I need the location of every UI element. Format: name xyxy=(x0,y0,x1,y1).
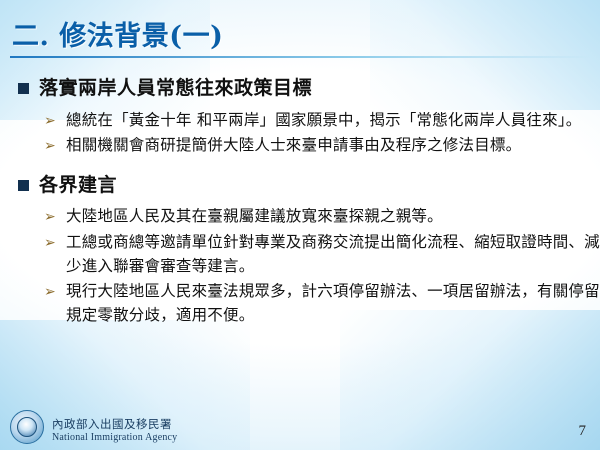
list-item-label: 現行大陸地區人民來臺法規眾多，計六項停留辦法、一項居留辦法，有關停留規定零散分歧… xyxy=(66,279,600,327)
organization-name-english: National Immigration Agency xyxy=(52,432,177,444)
list-item-label: 相關機關會商研提簡併大陸人士來臺申請事由及程序之修法目標。 xyxy=(66,133,521,157)
agency-logo-inner xyxy=(17,417,37,437)
list-item: ➢ 總統在「黃金十年 和平兩岸」國家願景中，揭示「常態化兩岸人員往來」。 xyxy=(0,108,600,133)
agency-logo-icon xyxy=(10,410,44,444)
arrow-bullet-icon: ➢ xyxy=(44,111,58,133)
arrow-bullet-icon: ➢ xyxy=(44,136,58,158)
section-heading: 落實兩岸人員常態往來政策目標 xyxy=(0,74,600,103)
section-heading-label: 落實兩岸人員常態往來政策目標 xyxy=(39,74,312,103)
list-item: ➢ 工總或商總等邀請單位針對專業及商務交流提出簡化流程、縮短取證時間、減少進入聯… xyxy=(0,230,600,278)
list-item-label: 總統在「黃金十年 和平兩岸」國家願景中，揭示「常態化兩岸人員往來」。 xyxy=(66,108,581,132)
page-number: 7 xyxy=(579,423,587,440)
square-bullet-icon xyxy=(18,180,29,191)
list-item: ➢ 相關機關會商研提簡併大陸人士來臺申請事由及程序之修法目標。 xyxy=(0,133,600,158)
list-item: ➢ 大陸地區人民及其在臺親屬建議放寬來臺探親之親等。 xyxy=(0,204,600,229)
section-heading-label: 各界建言 xyxy=(39,171,117,200)
slide-footer: 內政部入出國及移民署 National Immigration Agency 7 xyxy=(0,408,600,450)
title-divider xyxy=(10,56,590,58)
section-heading: 各界建言 xyxy=(0,171,600,200)
slide: 二. 修法背景(一) 落實兩岸人員常態往來政策目標 ➢ 總統在「黃金十年 和平兩… xyxy=(0,0,600,450)
list-item-label: 工總或商總等邀請單位針對專業及商務交流提出簡化流程、縮短取證時間、減少進入聯審會… xyxy=(66,230,600,278)
arrow-bullet-icon: ➢ xyxy=(44,207,58,229)
slide-body: 落實兩岸人員常態往來政策目標 ➢ 總統在「黃金十年 和平兩岸」國家願景中，揭示「… xyxy=(0,74,600,328)
list-item: ➢ 現行大陸地區人民來臺法規眾多，計六項停留辦法、一項居留辦法，有關停留規定零散… xyxy=(0,279,600,327)
organization-name-chinese: 內政部入出國及移民署 xyxy=(52,418,177,431)
list-item-label: 大陸地區人民及其在臺親屬建議放寬來臺探親之親等。 xyxy=(66,204,443,228)
arrow-bullet-icon: ➢ xyxy=(44,233,58,255)
organization-name: 內政部入出國及移民署 National Immigration Agency xyxy=(52,418,177,443)
page-title: 二. 修法背景(一) xyxy=(12,14,223,53)
arrow-bullet-icon: ➢ xyxy=(44,282,58,304)
square-bullet-icon xyxy=(18,83,29,94)
